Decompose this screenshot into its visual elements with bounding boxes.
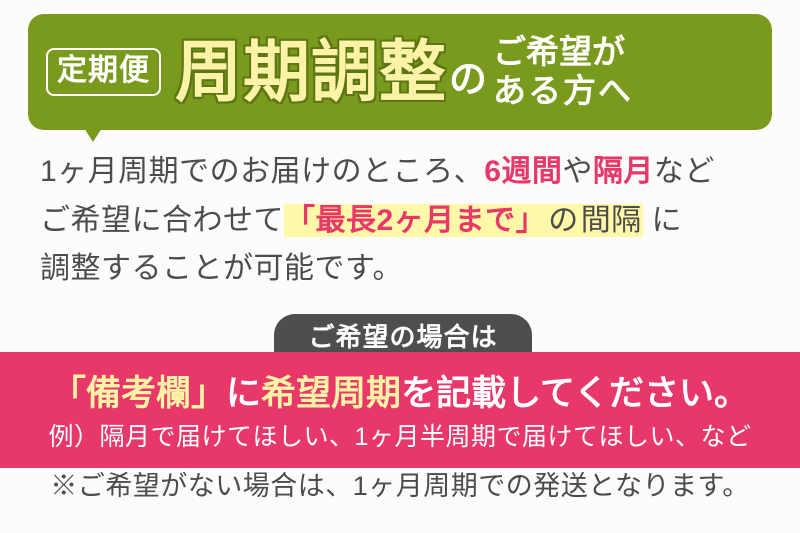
description-highlight-6weeks: 6週間 <box>484 155 562 188</box>
instruction-main-part4: を記載してください。 <box>401 374 749 413</box>
description-line2-part3: の <box>547 204 580 237</box>
description-highlight-max2months: 「最長2ヶ月まで」 <box>284 204 547 237</box>
request-ribbon-label: ご希望の場合は <box>274 314 532 356</box>
description-line2-part1: ご希望に合わせて <box>40 204 284 237</box>
banner-subtext-line2: ある方へ <box>493 72 633 109</box>
description-line1-part5: など <box>654 155 715 188</box>
instruction-desired-cycle: 希望周期 <box>261 374 401 413</box>
description-line1-part3: や <box>562 155 593 188</box>
description-highlight-bimonthly: 隔月 <box>593 155 654 188</box>
description-text: 1ヶ月周期でのお届けのところ、6週間や隔月など ご希望に合わせて「最長2ヶ月まで… <box>40 148 770 294</box>
banner-particle: の <box>449 61 487 99</box>
instruction-main-part2: に <box>226 374 261 413</box>
instruction-example-text: 例）隔月で届けてほしい、1ヶ月半周期で届けてほしい、など <box>0 424 800 452</box>
banner-subtext: ご希望が ある方へ <box>493 33 633 111</box>
promo-page: 定期便 周期調整 の ご希望が ある方へ 1ヶ月周期でのお届けのところ、6週間や… <box>0 0 800 533</box>
description-line-1: 1ヶ月周期でのお届けのところ、6週間や隔月など <box>40 148 770 197</box>
description-line-3: 調整することが可能です。 <box>40 245 770 294</box>
instruction-panel: 「備考欄」に希望周期を記載してください。 例）隔月で届けてほしい、1ヶ月半周期で… <box>0 352 800 468</box>
description-line2-part5: に <box>643 204 682 237</box>
description-line1-part1: 1ヶ月周期でのお届けのところ、 <box>40 155 484 188</box>
description-line-2: ご希望に合わせて「最長2ヶ月まで」の間隔 に <box>40 197 770 246</box>
header-banner: 定期便 周期調整 の ご希望が ある方へ <box>28 14 772 130</box>
banner-headline: 周期調整 <box>175 39 447 106</box>
banner-subtext-line1: ご希望が <box>493 33 625 70</box>
footer-note: ※ご希望がない場合は、1ヶ月周期での発送となります。 <box>0 470 800 502</box>
instruction-main-text: 「備考欄」に希望周期を記載してください。 <box>0 375 800 414</box>
banner-pointer <box>84 128 102 142</box>
description-highlight-interval: 間隔 <box>580 204 643 237</box>
instruction-remarks-field: 「備考欄」 <box>51 374 226 413</box>
subscription-badge: 定期便 <box>46 48 161 96</box>
